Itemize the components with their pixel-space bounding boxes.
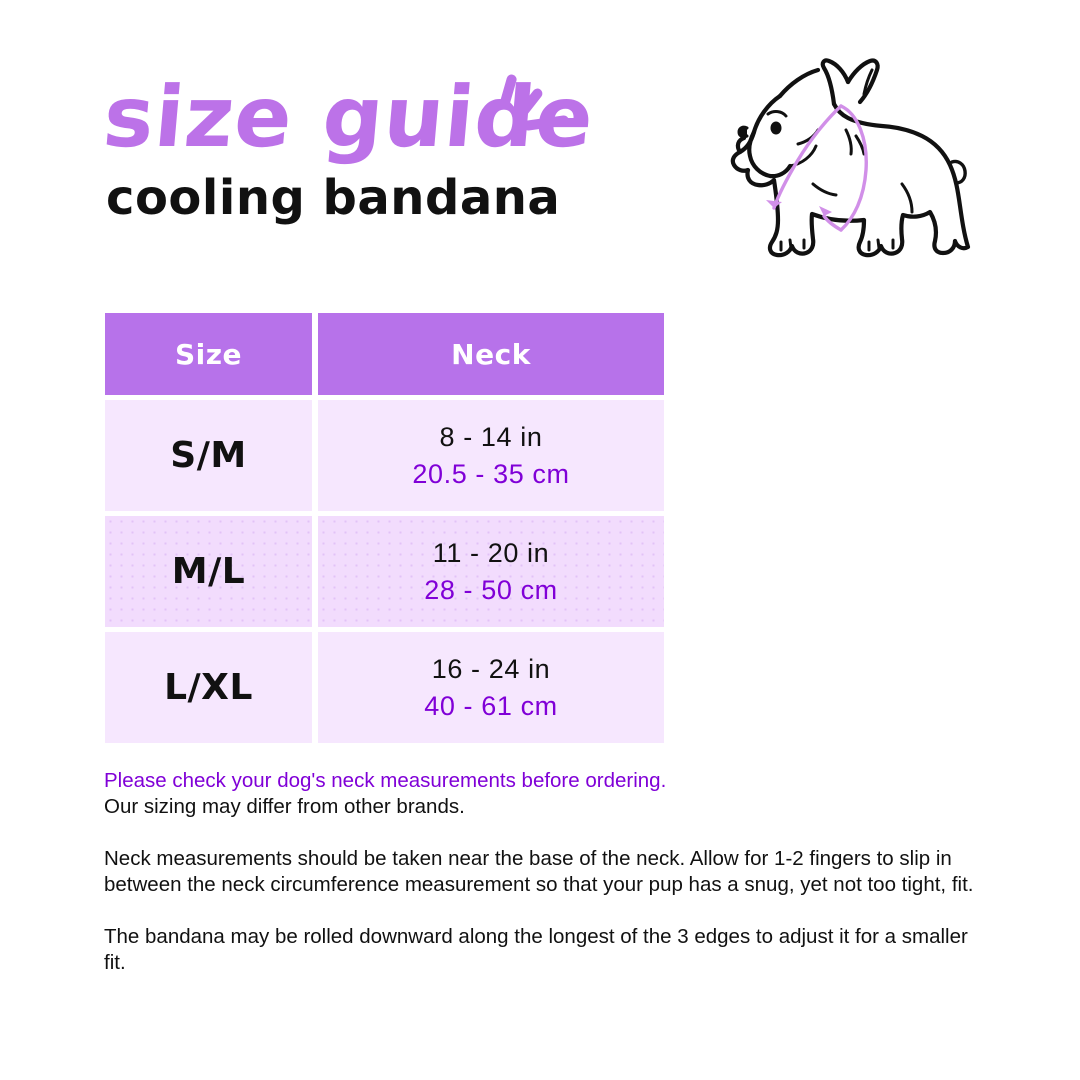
neck-centimeters: 20.5 - 35 cm	[412, 459, 569, 490]
table-row: M/L 11 - 20 in 28 - 50 cm	[105, 516, 664, 627]
size-guide-page: size guide cooling bandana	[0, 0, 1080, 1080]
neck-inches: 16 - 24 in	[432, 654, 551, 685]
header-label-neck: Neck	[451, 338, 531, 371]
cell-size: M/L	[105, 516, 312, 627]
neck-inches: 11 - 20 in	[433, 538, 550, 569]
size-value: L/XL	[164, 667, 253, 708]
page-subtitle: cooling bandana	[106, 174, 724, 222]
cell-neck: 8 - 14 in 20.5 - 35 cm	[318, 400, 664, 511]
note-spacer	[104, 898, 984, 924]
size-table: Size Neck S/M 8 - 14 in 20.5 - 35 cm M/L…	[105, 313, 664, 743]
cell-neck: 16 - 24 in 40 - 61 cm	[318, 632, 664, 743]
header-block: size guide cooling bandana	[104, 78, 724, 222]
note-line-2: Our sizing may differ from other brands.	[104, 794, 984, 820]
neck-inches: 8 - 14 in	[440, 422, 543, 453]
table-header-size: Size	[105, 313, 312, 395]
note-highlight: Please check your dog's neck measurement…	[104, 768, 984, 794]
note-paragraph-2: The bandana may be rolled downward along…	[104, 924, 984, 976]
table-row: L/XL 16 - 24 in 40 - 61 cm	[105, 632, 664, 743]
notes-block: Please check your dog's neck measurement…	[104, 768, 984, 976]
cell-size: S/M	[105, 400, 312, 511]
cell-size: L/XL	[105, 632, 312, 743]
table-header-row: Size Neck	[105, 313, 664, 395]
header-label-size: Size	[175, 338, 242, 371]
size-value: M/L	[172, 551, 245, 592]
size-value: S/M	[170, 435, 246, 476]
note-paragraph-1: Neck measurements should be taken near t…	[104, 846, 984, 898]
neck-centimeters: 40 - 61 cm	[424, 691, 558, 722]
page-title: size guide	[101, 78, 598, 158]
cell-neck: 11 - 20 in 28 - 50 cm	[318, 516, 664, 627]
table-header-neck: Neck	[318, 313, 664, 395]
note-spacer	[104, 820, 984, 846]
title-wrap: size guide	[104, 78, 594, 158]
neck-centimeters: 28 - 50 cm	[424, 575, 558, 606]
table-row: S/M 8 - 14 in 20.5 - 35 cm	[105, 400, 664, 511]
french-bulldog-illustration	[706, 44, 974, 274]
